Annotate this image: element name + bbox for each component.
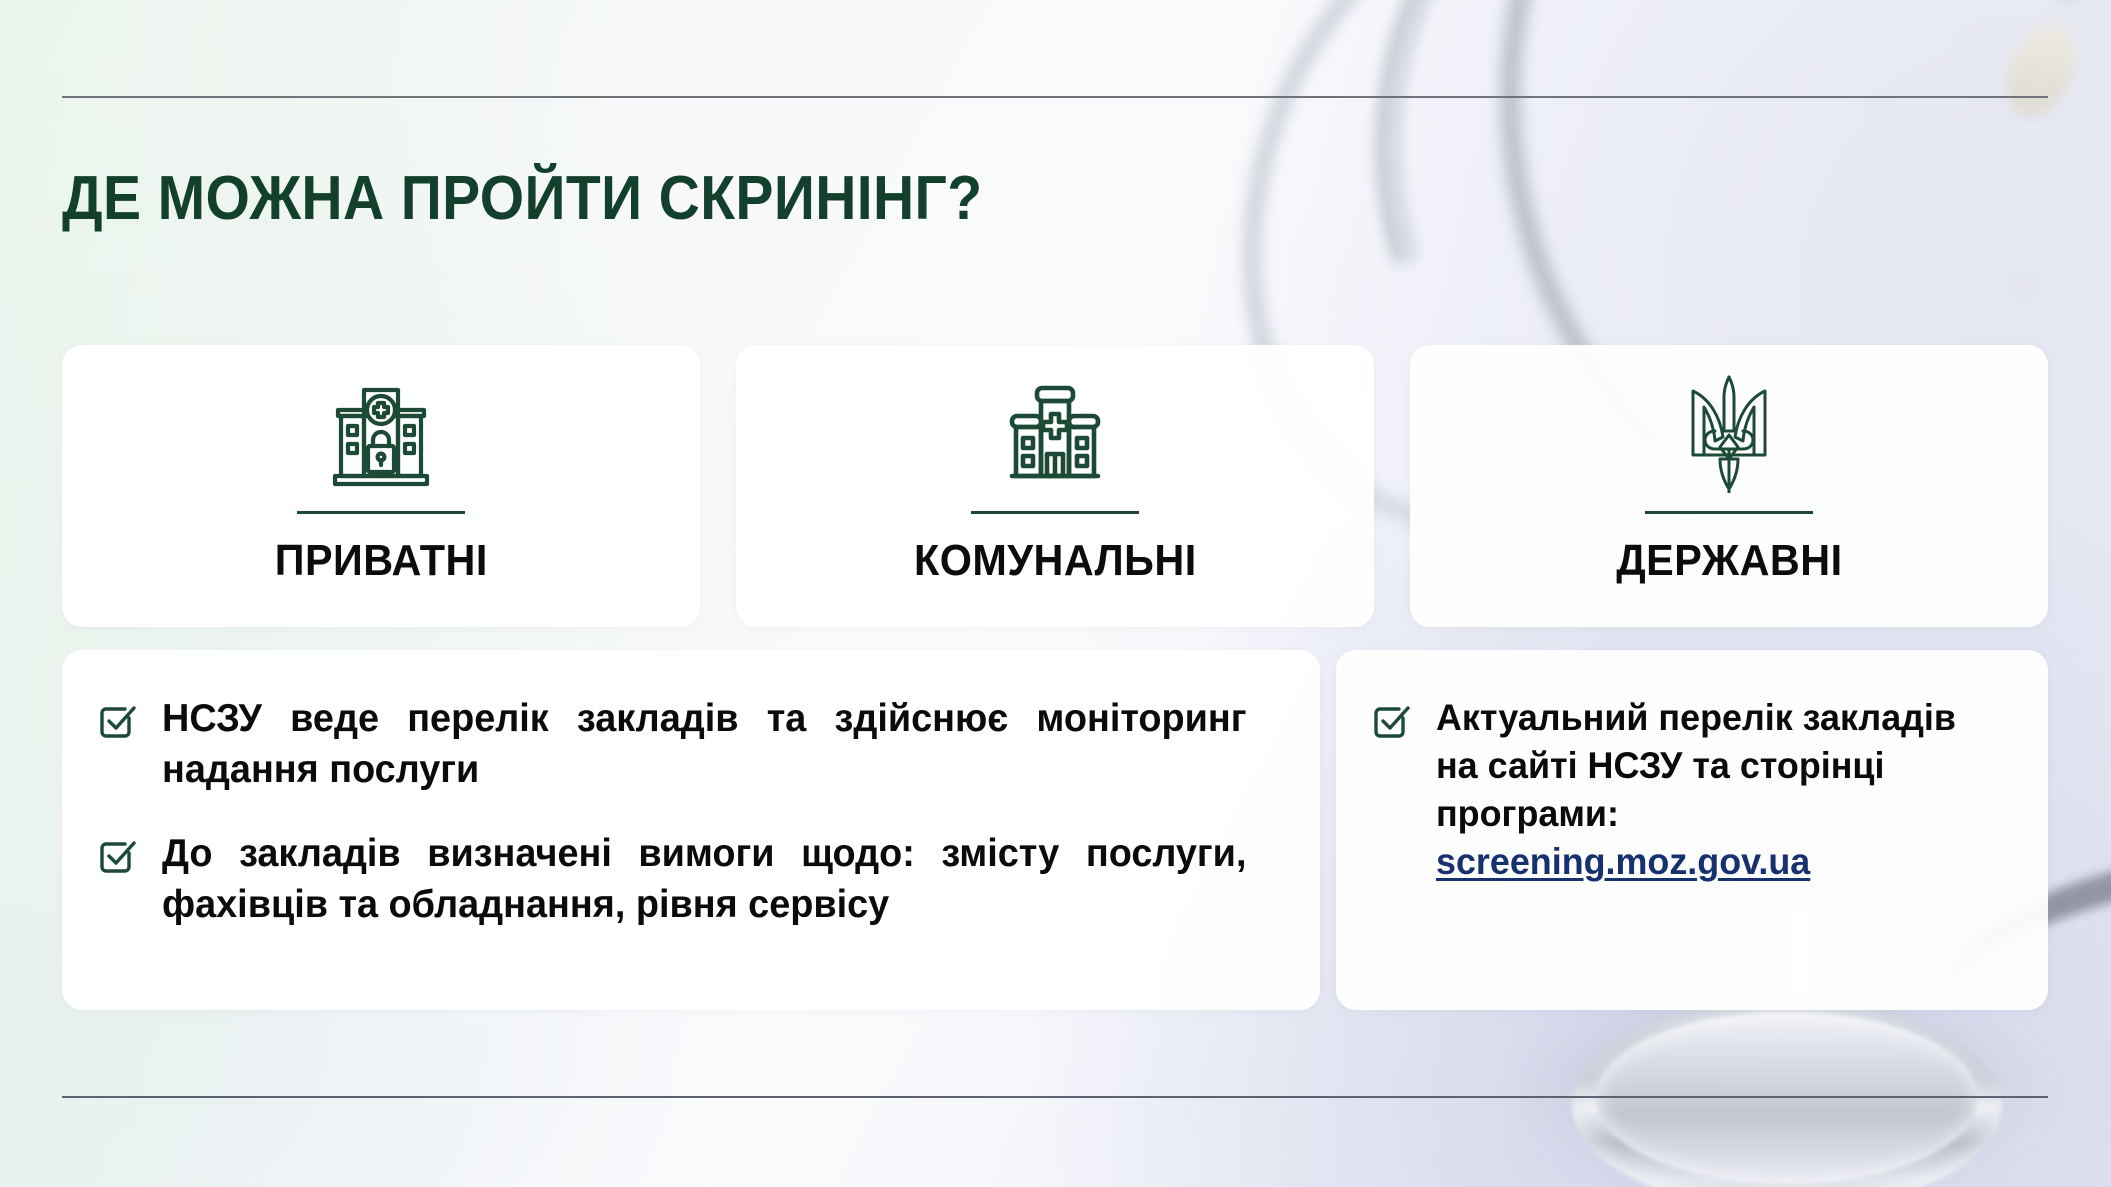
list-item: До закладів визначені вимоги щодо: зміст… [96, 829, 1280, 930]
list-item: Актуальний перелік закладів на сайті НСЗ… [1370, 694, 2004, 886]
category-label: ПРИВАТНІ [274, 536, 487, 586]
category-separator [1645, 511, 1813, 514]
info-right-block: Актуальний перелік закладів на сайті НСЗ… [1436, 694, 1987, 886]
checkbox-checked-icon [96, 700, 138, 742]
page-title: ДЕ МОЖНА ПРОЙТИ СКРИНІНГ? [62, 168, 982, 230]
list-item: НСЗУ веде перелік закладів та здійснює м… [96, 694, 1280, 795]
category-label: ДЕРЖАВНІ [1616, 536, 1842, 586]
category-card-municipal[interactable]: КОМУНАЛЬНІ [736, 345, 1374, 627]
category-label: КОМУНАЛЬНІ [914, 536, 1197, 586]
category-cards: ПРИВАТНІ [62, 345, 2048, 627]
checkbox-checked-icon [1370, 700, 1412, 742]
checkbox-checked-icon [96, 835, 138, 877]
info-card-link: Актуальний перелік закладів на сайті НСЗ… [1336, 650, 2048, 1010]
category-card-private[interactable]: ПРИВАТНІ [62, 345, 700, 627]
info-cards: НСЗУ веде перелік закладів та здійснює м… [62, 650, 2048, 1010]
info-right-text: Актуальний перелік закладів на сайті НСЗ… [1436, 697, 1956, 834]
info-card-nszu: НСЗУ веде перелік закладів та здійснює м… [62, 650, 1320, 1010]
list-item-text: НСЗУ веде перелік закладів та здійснює м… [162, 694, 1246, 795]
list-item-text: До закладів визначені вимоги щодо: зміст… [162, 829, 1246, 930]
bottom-divider [62, 1096, 2048, 1098]
hospital-lock-icon [321, 371, 441, 493]
category-card-state[interactable]: ДЕРЖАВНІ [1410, 345, 2048, 627]
category-separator [297, 511, 465, 514]
ukraine-trident-icon [1671, 371, 1787, 493]
hospital-cross-icon [995, 371, 1115, 493]
top-divider [62, 96, 2048, 98]
category-separator [971, 511, 1139, 514]
screening-link[interactable]: screening.moz.gov.ua [1436, 841, 1810, 882]
